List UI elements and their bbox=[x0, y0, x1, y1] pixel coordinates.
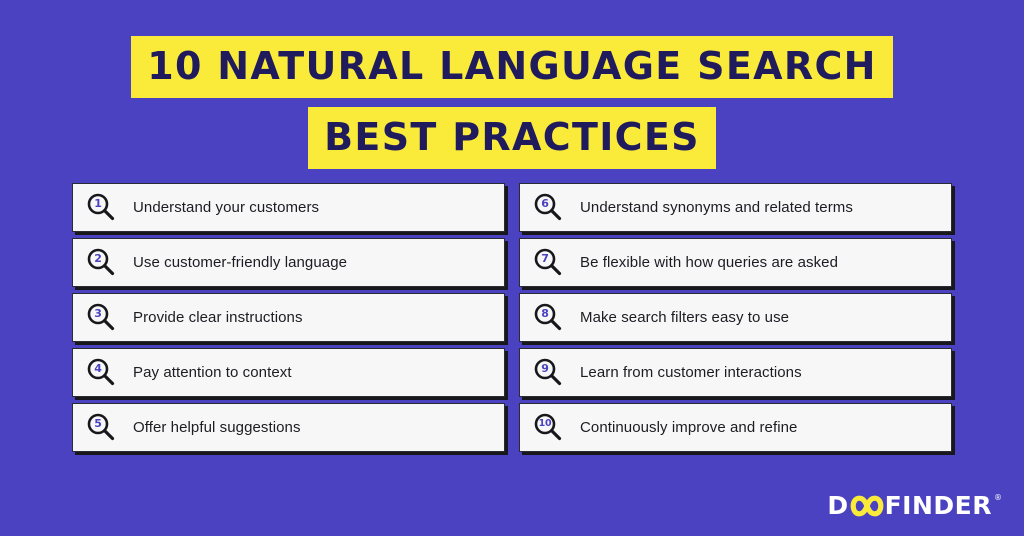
list-item-label: Continuously improve and refine bbox=[580, 419, 797, 436]
list-item[interactable]: 1 Understand your customers bbox=[72, 183, 505, 232]
list-item-label: Provide clear instructions bbox=[133, 309, 303, 326]
list-item-label: Be flexible with how queries are asked bbox=[580, 254, 838, 271]
list-item-label: Make search filters easy to use bbox=[580, 309, 789, 326]
magnifier-number-icon: 8 bbox=[534, 303, 564, 333]
title-block: 10 NATURAL LANGUAGE SEARCH BEST PRACTICE… bbox=[0, 36, 1024, 169]
magnifier-number-icon: 3 bbox=[87, 303, 117, 333]
magnifier-number-icon: 4 bbox=[87, 358, 117, 388]
practice-lists: 1 Understand your customers 2 Use custom… bbox=[72, 183, 952, 452]
list-item[interactable]: 6 Understand synonyms and related terms bbox=[519, 183, 952, 232]
title-line-1-text: 10 NATURAL LANGUAGE SEARCH bbox=[131, 36, 893, 98]
list-item-number: 6 bbox=[534, 193, 556, 215]
list-item-number: 9 bbox=[534, 358, 556, 380]
magnifier-number-icon: 7 bbox=[534, 248, 564, 278]
list-item-number: 4 bbox=[87, 358, 109, 380]
list-item[interactable]: 10 Continuously improve and refine bbox=[519, 403, 952, 452]
list-item-number: 7 bbox=[534, 248, 556, 270]
magnifier-number-icon: 1 bbox=[87, 193, 117, 223]
left-column: 1 Understand your customers 2 Use custom… bbox=[72, 183, 505, 452]
doofinder-logo: D FINDER ® bbox=[827, 493, 1002, 518]
title-line-1: 10 NATURAL LANGUAGE SEARCH bbox=[0, 36, 1024, 98]
list-item[interactable]: 7 Be flexible with how queries are asked bbox=[519, 238, 952, 287]
logo-prefix: D bbox=[827, 493, 848, 518]
registered-trademark-icon: ® bbox=[994, 494, 1002, 502]
logo-suffix: FINDER bbox=[885, 493, 992, 518]
title-line-2: BEST PRACTICES bbox=[0, 107, 1024, 169]
list-item-number: 5 bbox=[87, 413, 109, 435]
magnifier-number-icon: 2 bbox=[87, 248, 117, 278]
list-item-label: Understand synonyms and related terms bbox=[580, 199, 853, 216]
magnifier-number-icon: 9 bbox=[534, 358, 564, 388]
list-item[interactable]: 3 Provide clear instructions bbox=[72, 293, 505, 342]
list-item-label: Understand your customers bbox=[133, 199, 319, 216]
list-item-number: 8 bbox=[534, 303, 556, 325]
magnifier-number-icon: 5 bbox=[87, 413, 117, 443]
list-item-label: Learn from customer interactions bbox=[580, 364, 802, 381]
infinity-icon bbox=[850, 495, 884, 517]
list-item[interactable]: 5 Offer helpful suggestions bbox=[72, 403, 505, 452]
list-item[interactable]: 4 Pay attention to context bbox=[72, 348, 505, 397]
magnifier-number-icon: 6 bbox=[534, 193, 564, 223]
right-column: 6 Understand synonyms and related terms … bbox=[519, 183, 952, 452]
infographic-canvas: 10 NATURAL LANGUAGE SEARCH BEST PRACTICE… bbox=[0, 0, 1024, 536]
list-item-label: Pay attention to context bbox=[133, 364, 292, 381]
list-item-label: Use customer-friendly language bbox=[133, 254, 347, 271]
list-item[interactable]: 2 Use customer-friendly language bbox=[72, 238, 505, 287]
magnifier-number-icon: 10 bbox=[534, 413, 564, 443]
list-item[interactable]: 9 Learn from customer interactions bbox=[519, 348, 952, 397]
list-item-number: 10 bbox=[534, 413, 556, 435]
list-item-label: Offer helpful suggestions bbox=[133, 419, 301, 436]
list-item-number: 1 bbox=[87, 193, 109, 215]
title-line-2-text: BEST PRACTICES bbox=[308, 107, 716, 169]
logo-wordmark: D FINDER bbox=[827, 493, 992, 518]
list-item[interactable]: 8 Make search filters easy to use bbox=[519, 293, 952, 342]
list-item-number: 2 bbox=[87, 248, 109, 270]
list-item-number: 3 bbox=[87, 303, 109, 325]
